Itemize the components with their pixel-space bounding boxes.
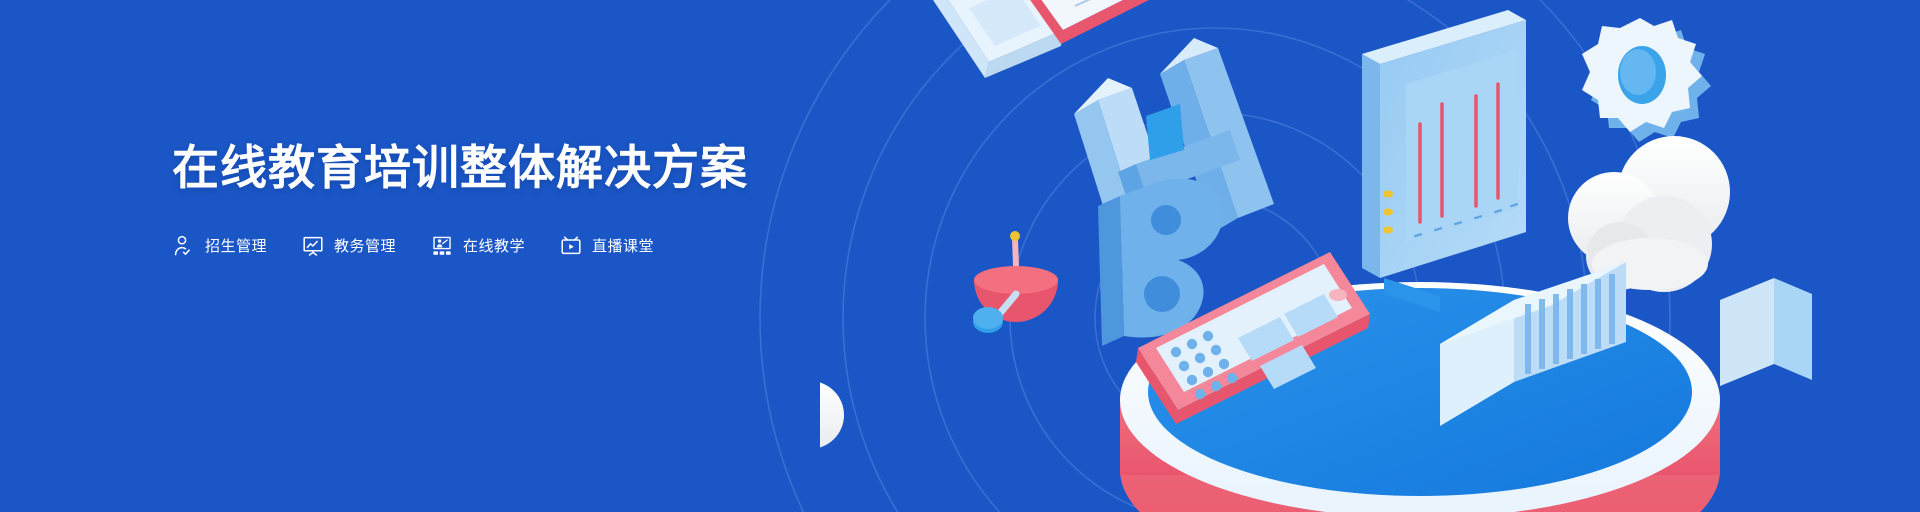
teacher-whiteboard-classroom-icon bbox=[430, 234, 454, 258]
feature-list: 招生管理 教务管理 bbox=[172, 234, 748, 258]
spinning-top bbox=[973, 231, 1058, 333]
presentation-chart-board-icon bbox=[301, 234, 325, 258]
education-banner: 在线教育培训整体解决方案 招生管理 教务管理 bbox=[0, 0, 1920, 512]
feature-label: 招生管理 bbox=[205, 239, 267, 254]
cloud-large bbox=[1568, 136, 1730, 292]
monitor-chart-screen bbox=[1362, 10, 1526, 312]
feature-item-live-classroom[interactable]: 直播课堂 bbox=[559, 234, 654, 258]
cloud-small bbox=[820, 361, 844, 455]
student-person-check-icon bbox=[172, 234, 196, 258]
feature-item-academic-affairs[interactable]: 教务管理 bbox=[301, 234, 396, 258]
feature-item-enrollment[interactable]: 招生管理 bbox=[172, 234, 267, 258]
gear-3d bbox=[1582, 18, 1711, 142]
banner-text-block: 在线教育培训整体解决方案 招生管理 教务管理 bbox=[172, 140, 748, 258]
feature-label: 教务管理 bbox=[334, 239, 396, 254]
tv-play-broadcast-icon bbox=[559, 234, 583, 258]
page-title: 在线教育培训整体解决方案 bbox=[172, 140, 748, 196]
feature-label: 直播课堂 bbox=[592, 239, 654, 254]
illustration-group bbox=[820, 0, 1920, 512]
open-book bbox=[929, 0, 1159, 78]
feature-item-online-teaching[interactable]: 在线教学 bbox=[430, 234, 525, 258]
feature-label: 在线教学 bbox=[463, 239, 525, 254]
wedge-shape bbox=[1720, 278, 1812, 386]
